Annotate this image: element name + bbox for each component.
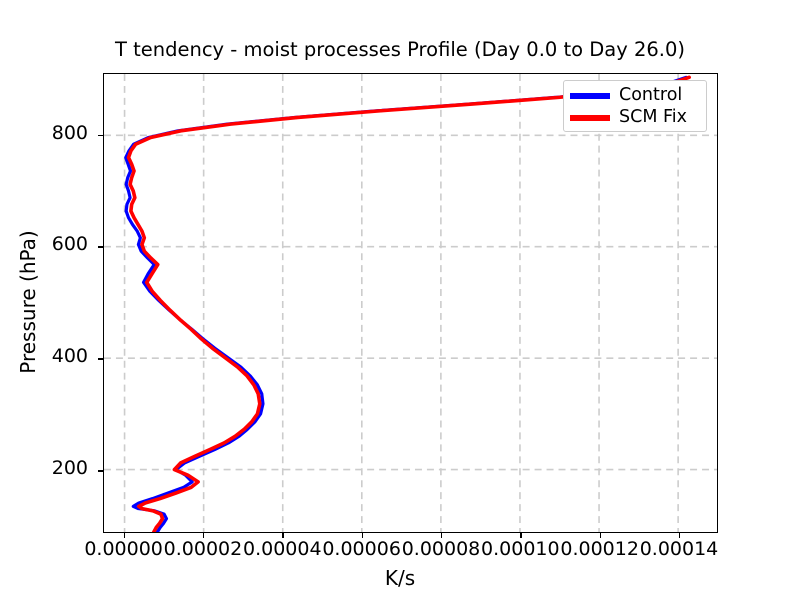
legend-swatch-scm-fix — [570, 115, 610, 122]
y-axis-title: Pressure (hPa) — [16, 102, 40, 502]
x-tick-label: 0.00014 — [619, 538, 739, 560]
x-axis-title: K/s — [0, 566, 800, 590]
legend-label-scm-fix: SCM Fix — [619, 109, 687, 127]
y-tick-label: 600 — [18, 233, 88, 255]
x-tick-mark — [203, 533, 204, 538]
legend-item-control: Control — [570, 85, 700, 107]
legend-item-scm-fix: SCM Fix — [570, 107, 700, 129]
x-tick-mark — [520, 533, 521, 538]
x-tick-mark — [362, 533, 363, 538]
y-tick-label: 400 — [18, 345, 88, 367]
series-layer — [104, 74, 717, 532]
x-tick-mark — [124, 533, 125, 538]
x-tick-mark — [282, 533, 283, 538]
legend-swatch-control — [570, 93, 610, 100]
legend-label-control: Control — [619, 87, 682, 105]
series-line-scm-fix — [129, 77, 690, 532]
x-tick-mark — [600, 533, 601, 538]
plot-area — [103, 73, 718, 533]
x-tick-mark — [679, 533, 680, 538]
series-line-control — [126, 77, 686, 532]
y-tick-label: 200 — [18, 457, 88, 479]
chart-legend: Control SCM Fix — [563, 80, 707, 132]
figure-canvas: T tendency - moist processes Profile (Da… — [0, 0, 800, 600]
x-tick-mark — [441, 533, 442, 538]
y-tick-label: 800 — [18, 122, 88, 144]
chart-title: T tendency - moist processes Profile (Da… — [0, 38, 800, 61]
